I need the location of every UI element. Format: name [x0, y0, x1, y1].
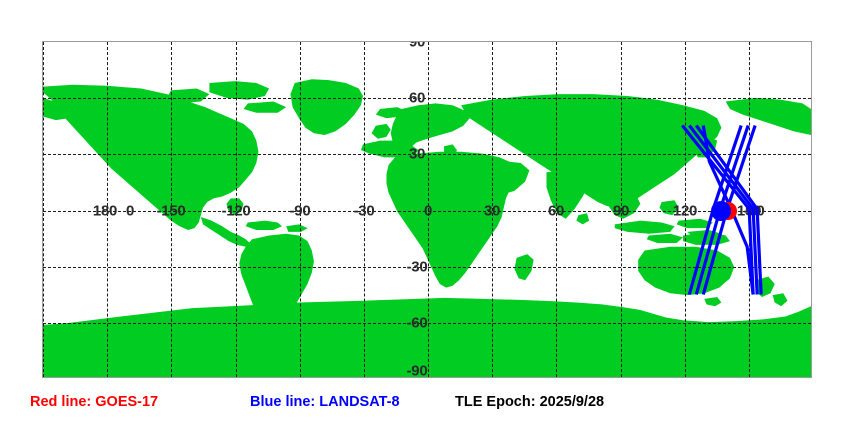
legend-blue-line-landsat-8: Blue line: LANDSAT-8: [250, 392, 400, 412]
landmass-layer: [43, 42, 811, 377]
landsat-8-position-marker[interactable]: [711, 201, 731, 221]
land-polygons: [43, 42, 811, 377]
legend-tle-epoch: TLE Epoch: 2025/9/28: [455, 392, 604, 412]
world-map: -30 0 30 60 90 120 150 180 -150 -120 -90…: [42, 41, 812, 378]
legend-red-line-goes-17: Red line: GOES-17: [30, 392, 158, 412]
legend: Red line: GOES-17 Blue line: LANDSAT-8 T…: [0, 392, 850, 420]
